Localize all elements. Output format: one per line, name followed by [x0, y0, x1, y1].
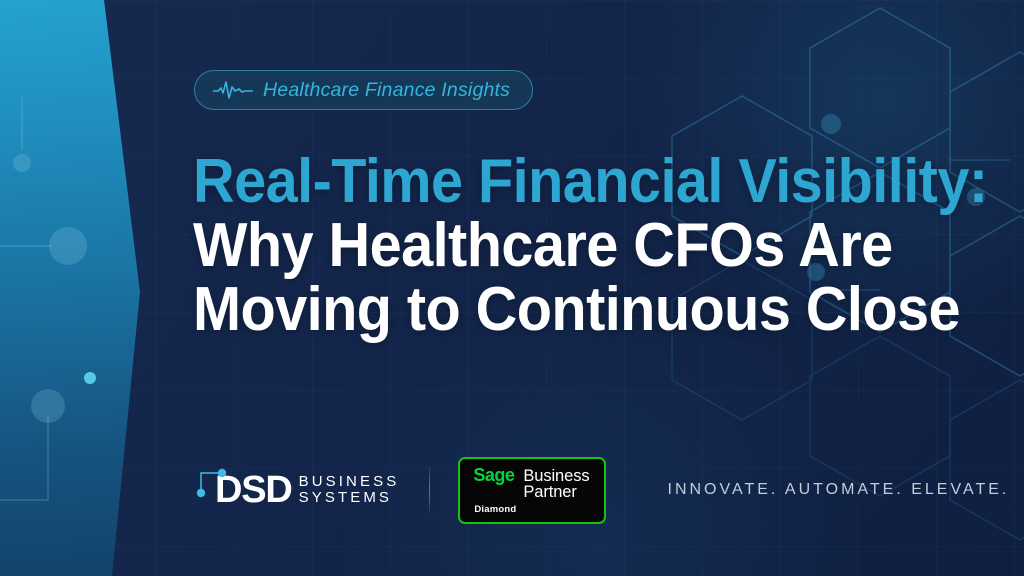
headline-line-1: Real-Time Financial Visibility:	[193, 150, 928, 214]
footer-divider	[429, 465, 430, 515]
headline-line-3: Moving to Continuous Close	[193, 278, 928, 342]
presentation-slide: Healthcare Finance Insights Real-Time Fi…	[0, 0, 1024, 576]
sage-partner-label: Business Partner	[523, 468, 589, 501]
page-title: Real-Time Financial Visibility: Why Heal…	[193, 150, 983, 342]
sage-tier-label: Diamond	[474, 504, 589, 515]
category-badge[interactable]: Healthcare Finance Insights	[194, 70, 533, 110]
headline-line-2: Why Healthcare CFOs Are	[193, 214, 928, 278]
circuit-node-icon	[193, 466, 233, 500]
category-badge-label: Healthcare Finance Insights	[263, 79, 510, 102]
dsd-subtitle: BUSINESS SYSTEMS	[299, 474, 400, 506]
footer-bar: DSD BUSINESS SYSTEMS Sage Business Partn…	[193, 462, 983, 518]
left-accent-panel	[0, 0, 170, 576]
dsd-subtitle-line-1: BUSINESS	[299, 474, 400, 490]
sage-badge-top-row: Sage Business Partner	[473, 466, 589, 501]
company-tagline: INNOVATE. AUTOMATE. ELEVATE.	[668, 481, 1010, 499]
sage-business-partner-badge[interactable]: Sage Business Partner Diamond	[458, 457, 605, 524]
heartbeat-pulse-icon	[213, 81, 253, 99]
bottom-right-glow	[304, 316, 904, 576]
left-panel-circuit-decoration	[0, 0, 170, 576]
dsd-business-systems-logo[interactable]: DSD BUSINESS SYSTEMS	[193, 462, 399, 518]
sage-wordmark: Sage	[473, 466, 514, 484]
dsd-subtitle-line-2: SYSTEMS	[299, 490, 400, 506]
